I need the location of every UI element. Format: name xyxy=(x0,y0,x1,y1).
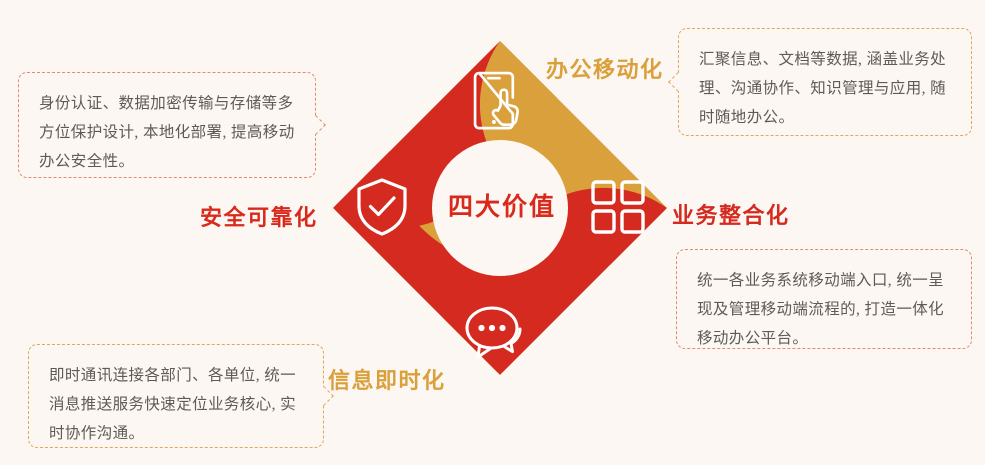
center-disc xyxy=(432,140,568,276)
callout-mobile-text: 汇聚信息、文档等数据, 涵盖业务处理、沟通协作、知识管理与应用, 随时随地办公。 xyxy=(699,45,951,132)
heading-info: 信息即时化 xyxy=(328,363,446,395)
callout-info-text: 即时通讯连接各部门、各单位, 统一消息推送服务快速定位业务核心, 实时协作沟通。 xyxy=(49,361,303,448)
callout-business: 统一各业务系统移动端入口, 统一呈现及管理移动端流程的, 打造一体化移动办公平台… xyxy=(676,249,972,349)
pinwheel-diagram xyxy=(325,33,675,383)
callout-security-text: 身份认证、数据加密传输与存储等多方位保护设计, 本地化部署, 提高移动办公安全性… xyxy=(39,89,295,176)
callout-business-text: 统一各业务系统移动端入口, 统一呈现及管理移动端流程的, 打造一体化移动办公平台… xyxy=(697,266,951,353)
heading-mobile: 办公移动化 xyxy=(546,52,664,84)
callout-info: 即时通讯连接各部门、各单位, 统一消息推送服务快速定位业务核心, 实时协作沟通。 xyxy=(28,344,324,448)
callout-security: 身份认证、数据加密传输与存储等多方位保护设计, 本地化部署, 提高移动办公安全性… xyxy=(18,72,316,178)
infographic-canvas: 四大价值 办公移动化 业务整合化 信息即时化 安全可靠化 身份认证、数据加密传输… xyxy=(0,0,985,465)
heading-business: 业务整合化 xyxy=(672,198,790,230)
callout-mobile: 汇聚信息、文档等数据, 涵盖业务处理、沟通协作、知识管理与应用, 随时随地办公。 xyxy=(678,28,972,136)
heading-security: 安全可靠化 xyxy=(200,200,318,232)
